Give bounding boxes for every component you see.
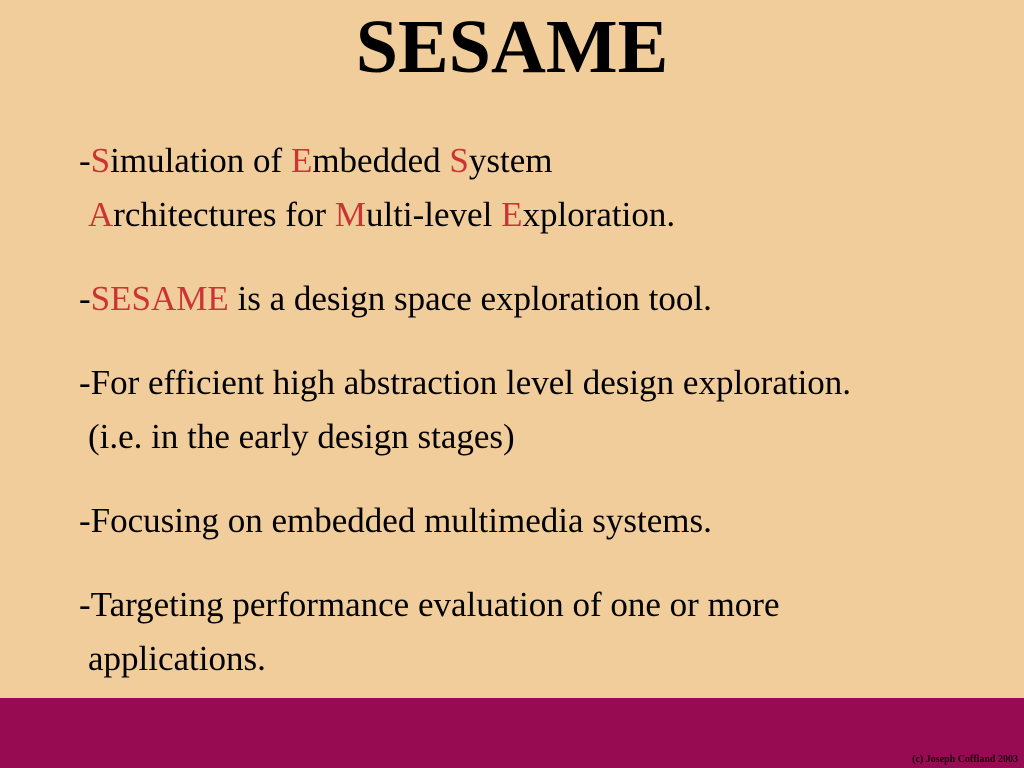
bullet-dash: - (79, 279, 91, 318)
accent-word-sesame: SESAME (91, 279, 229, 318)
accent-letter-s2: S (449, 141, 468, 180)
accent-letter-e2: E (501, 195, 522, 234)
bullet-line: -For efficient high abstraction level de… (79, 356, 979, 410)
bullet-line: -Simulation of Embedded System (79, 134, 979, 188)
bullet-line: -Targeting performance evaluation of one… (79, 578, 979, 632)
accent-letter-m: M (335, 195, 366, 234)
bullet-line: (i.e. in the early design stages) (79, 410, 979, 464)
bullet-text: ystem (469, 141, 553, 180)
bullet-line: Architectures for Multi-level Exploratio… (79, 188, 979, 242)
bullet-text: rchitectures for (113, 195, 335, 234)
bullet-line: applications. (79, 632, 979, 686)
bullet-text: is a design space exploration tool. (229, 279, 712, 318)
bullet-text: ulti-level (366, 195, 501, 234)
slide-title: SESAME (0, 6, 1024, 88)
bullet-item: -SESAME is a design space exploration to… (79, 272, 979, 326)
bullet-item: -Targeting performance evaluation of one… (79, 578, 979, 686)
accent-letter-a: A (88, 195, 113, 234)
footer-bar: (c) Joseph Coffland 2003 (0, 698, 1024, 768)
bullet-item: -Simulation of Embedded System Architect… (79, 134, 979, 242)
bullet-line: -Focusing on embedded multimedia systems… (79, 494, 979, 548)
accent-letter-e: E (291, 141, 312, 180)
slide: SESAME -Simulation of Embedded System Ar… (0, 0, 1024, 768)
bullet-text: mbedded (312, 141, 449, 180)
bullet-text: xploration. (522, 195, 675, 234)
bullet-line: -SESAME is a design space exploration to… (79, 272, 979, 326)
accent-letter-s: S (91, 141, 110, 180)
bullet-item: -Focusing on embedded multimedia systems… (79, 494, 979, 548)
slide-body: -Simulation of Embedded System Architect… (79, 134, 979, 686)
copyright-notice: (c) Joseph Coffland 2003 (912, 754, 1018, 765)
bullet-item: -For efficient high abstraction level de… (79, 356, 979, 464)
bullet-dash: - (79, 141, 91, 180)
bullet-text: imulation of (110, 141, 291, 180)
